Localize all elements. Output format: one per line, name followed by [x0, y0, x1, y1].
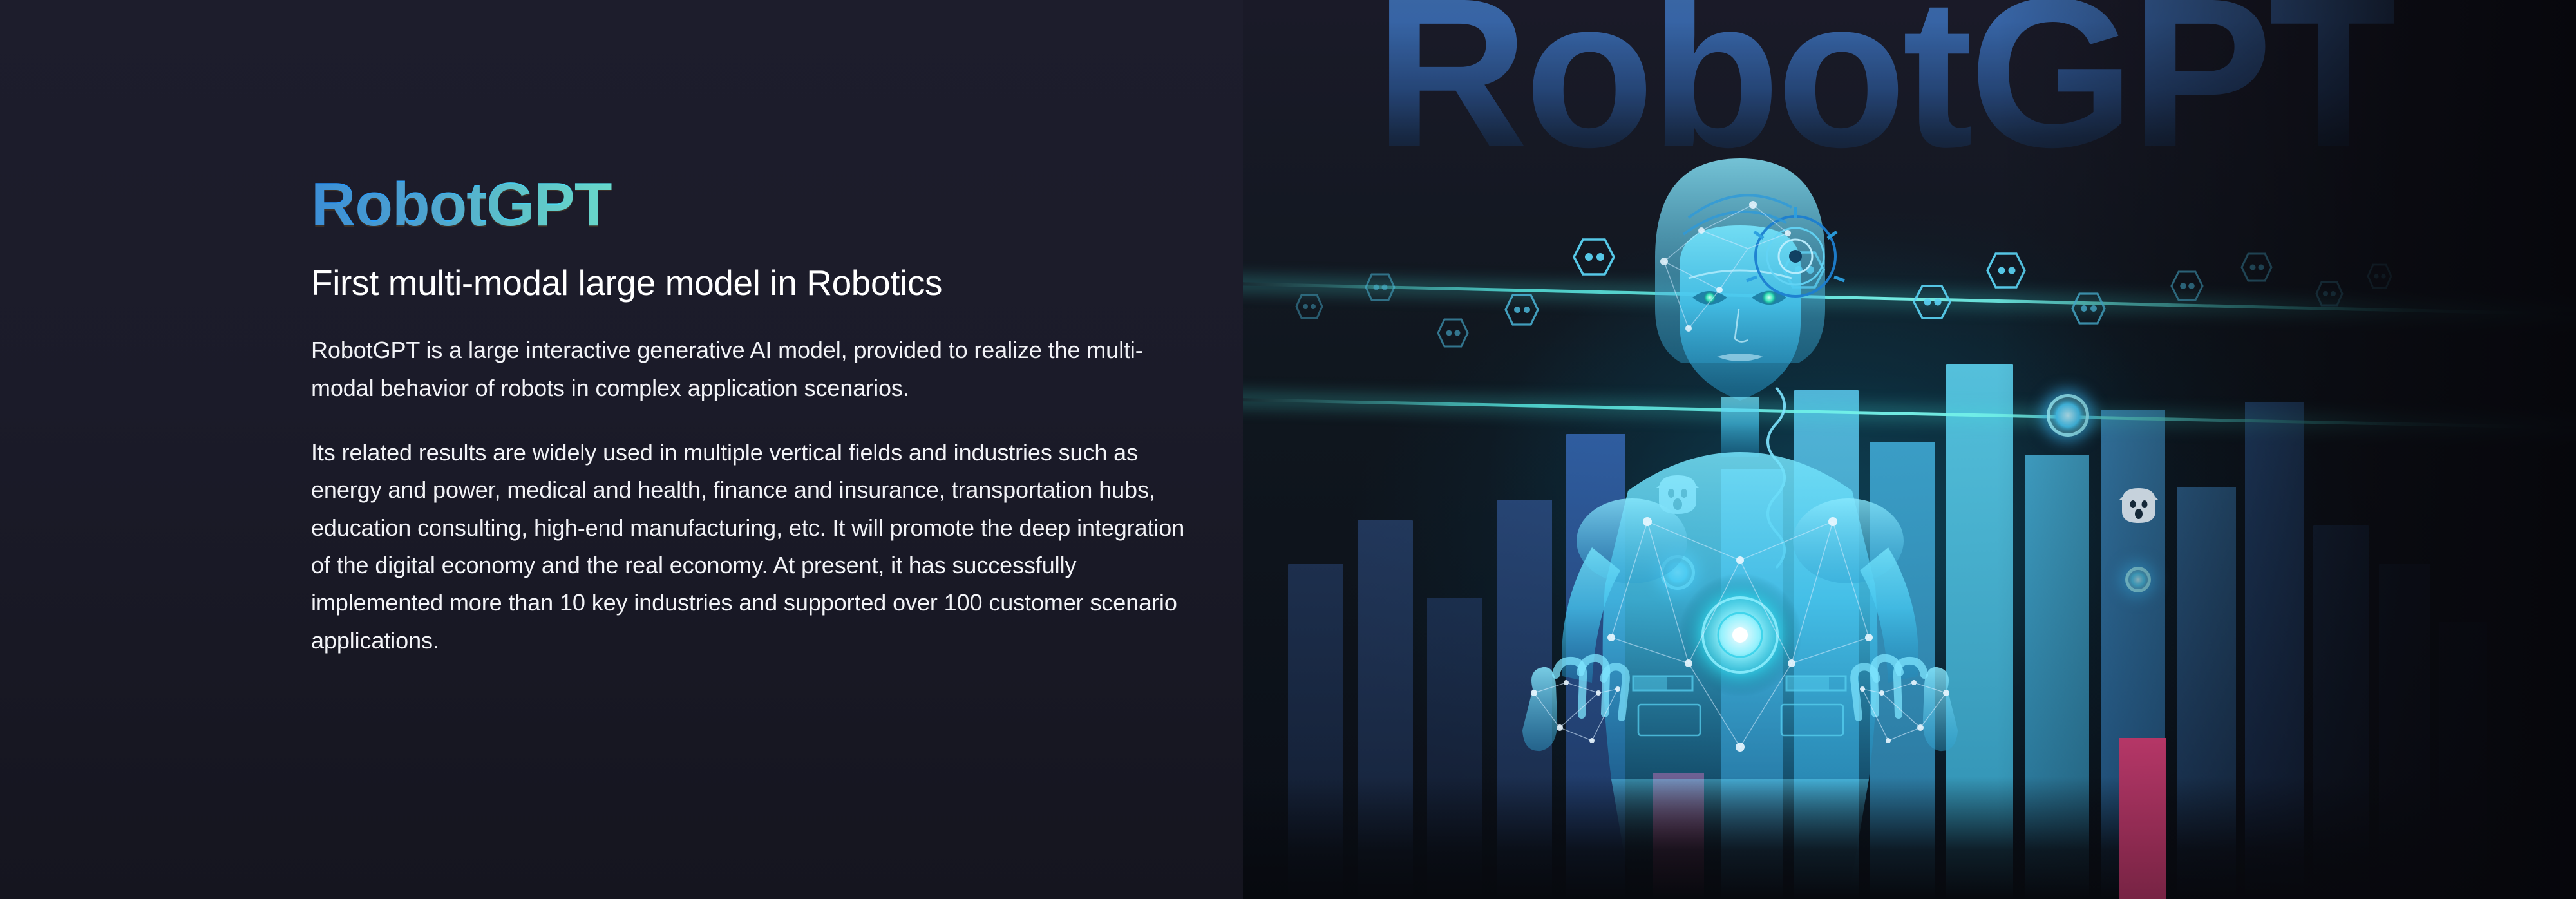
- chart-bar: [2177, 487, 2236, 899]
- chart-bar: [2245, 402, 2304, 899]
- robot-figure: [1495, 97, 1985, 899]
- glow-node-icon: [2047, 394, 2089, 437]
- description-paragraph-1: RobotGPT is a large interactive generati…: [311, 332, 1197, 407]
- glow-node-icon: [2125, 567, 2151, 592]
- chart-bar: [2025, 455, 2089, 899]
- robot-face-icon: [2114, 482, 2164, 529]
- robot-face-icon: [1364, 270, 1396, 304]
- chart-bar: [2313, 525, 2369, 899]
- robot-face-icon: [1436, 316, 1470, 350]
- hero-description: RobotGPT is a large interactive generati…: [311, 332, 1206, 659]
- robot-head: [1655, 158, 1844, 401]
- robot-face-icon: [2070, 290, 2107, 327]
- robot-face-icon: [1985, 250, 2027, 291]
- robot-face-icon: [1294, 291, 1324, 322]
- chart-bar: [1288, 564, 1343, 899]
- chart-bar: [2439, 622, 2487, 899]
- hero-subtitle: First multi-modal large model in Robotic…: [311, 262, 1206, 304]
- robot-face-icon: [2366, 261, 2393, 291]
- page-title: RobotGPT: [311, 171, 612, 239]
- robot-face-icon: [2169, 268, 2205, 304]
- chart-bar: [2379, 564, 2430, 899]
- hero-text-column: RobotGPT First multi-modal large model i…: [311, 171, 1206, 659]
- chart-bar: [1358, 520, 1413, 899]
- chart-bar: [1427, 598, 1482, 899]
- robot-torso: [1577, 452, 1904, 779]
- robotgpt-hero-banner: RobotGPT First multi-modal large model i…: [0, 0, 2576, 899]
- description-paragraph-2: Its related results are widely used in m…: [311, 434, 1197, 659]
- robot-face-icon: [2240, 250, 2273, 285]
- chart-bar-highlight: [2119, 738, 2166, 899]
- hero-artwork: RobotGPT: [1243, 0, 2576, 899]
- robot-face-icon: [2315, 278, 2344, 309]
